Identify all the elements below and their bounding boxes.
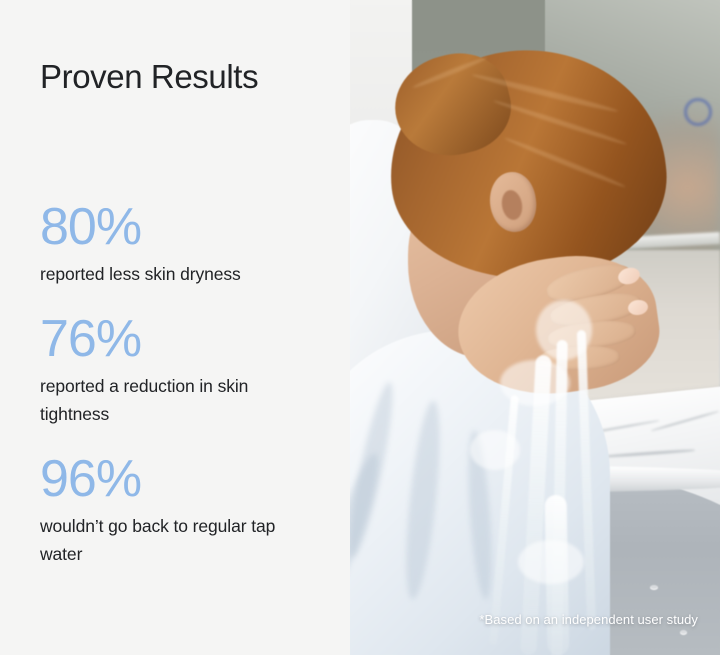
stat-item: 76% reported a reduction in skin tightne… <box>40 308 330 428</box>
page-title: Proven Results <box>40 56 258 98</box>
water-splash <box>470 430 520 470</box>
stat-label: reported less skin dryness <box>40 260 320 288</box>
stat-list: 80% reported less skin dryness 76% repor… <box>40 196 330 568</box>
stat-item: 80% reported less skin dryness <box>40 196 330 288</box>
stat-item: 96% wouldn’t go back to regular tap wate… <box>40 448 330 568</box>
stat-value: 96% <box>40 448 330 510</box>
stat-value: 76% <box>40 308 330 370</box>
water-splash <box>500 360 570 406</box>
water-droplet <box>650 585 658 590</box>
photo-caption: *Based on an independent user study <box>479 611 698 629</box>
water-splash <box>536 300 592 360</box>
stat-value: 80% <box>40 196 330 258</box>
photo-side: *Based on an independent user study <box>350 0 720 655</box>
lifestyle-photo <box>350 0 720 655</box>
proven-results-panel: Proven Results 80% reported less skin dr… <box>0 0 720 655</box>
stat-label: wouldn’t go back to regular tap water <box>40 512 320 568</box>
reflection-highlight <box>684 98 712 126</box>
stat-label: reported a reduction in skin tightness <box>40 372 320 428</box>
water-splash <box>518 540 584 584</box>
stats-side: Proven Results 80% reported less skin dr… <box>0 0 350 655</box>
water-droplet <box>680 630 687 635</box>
